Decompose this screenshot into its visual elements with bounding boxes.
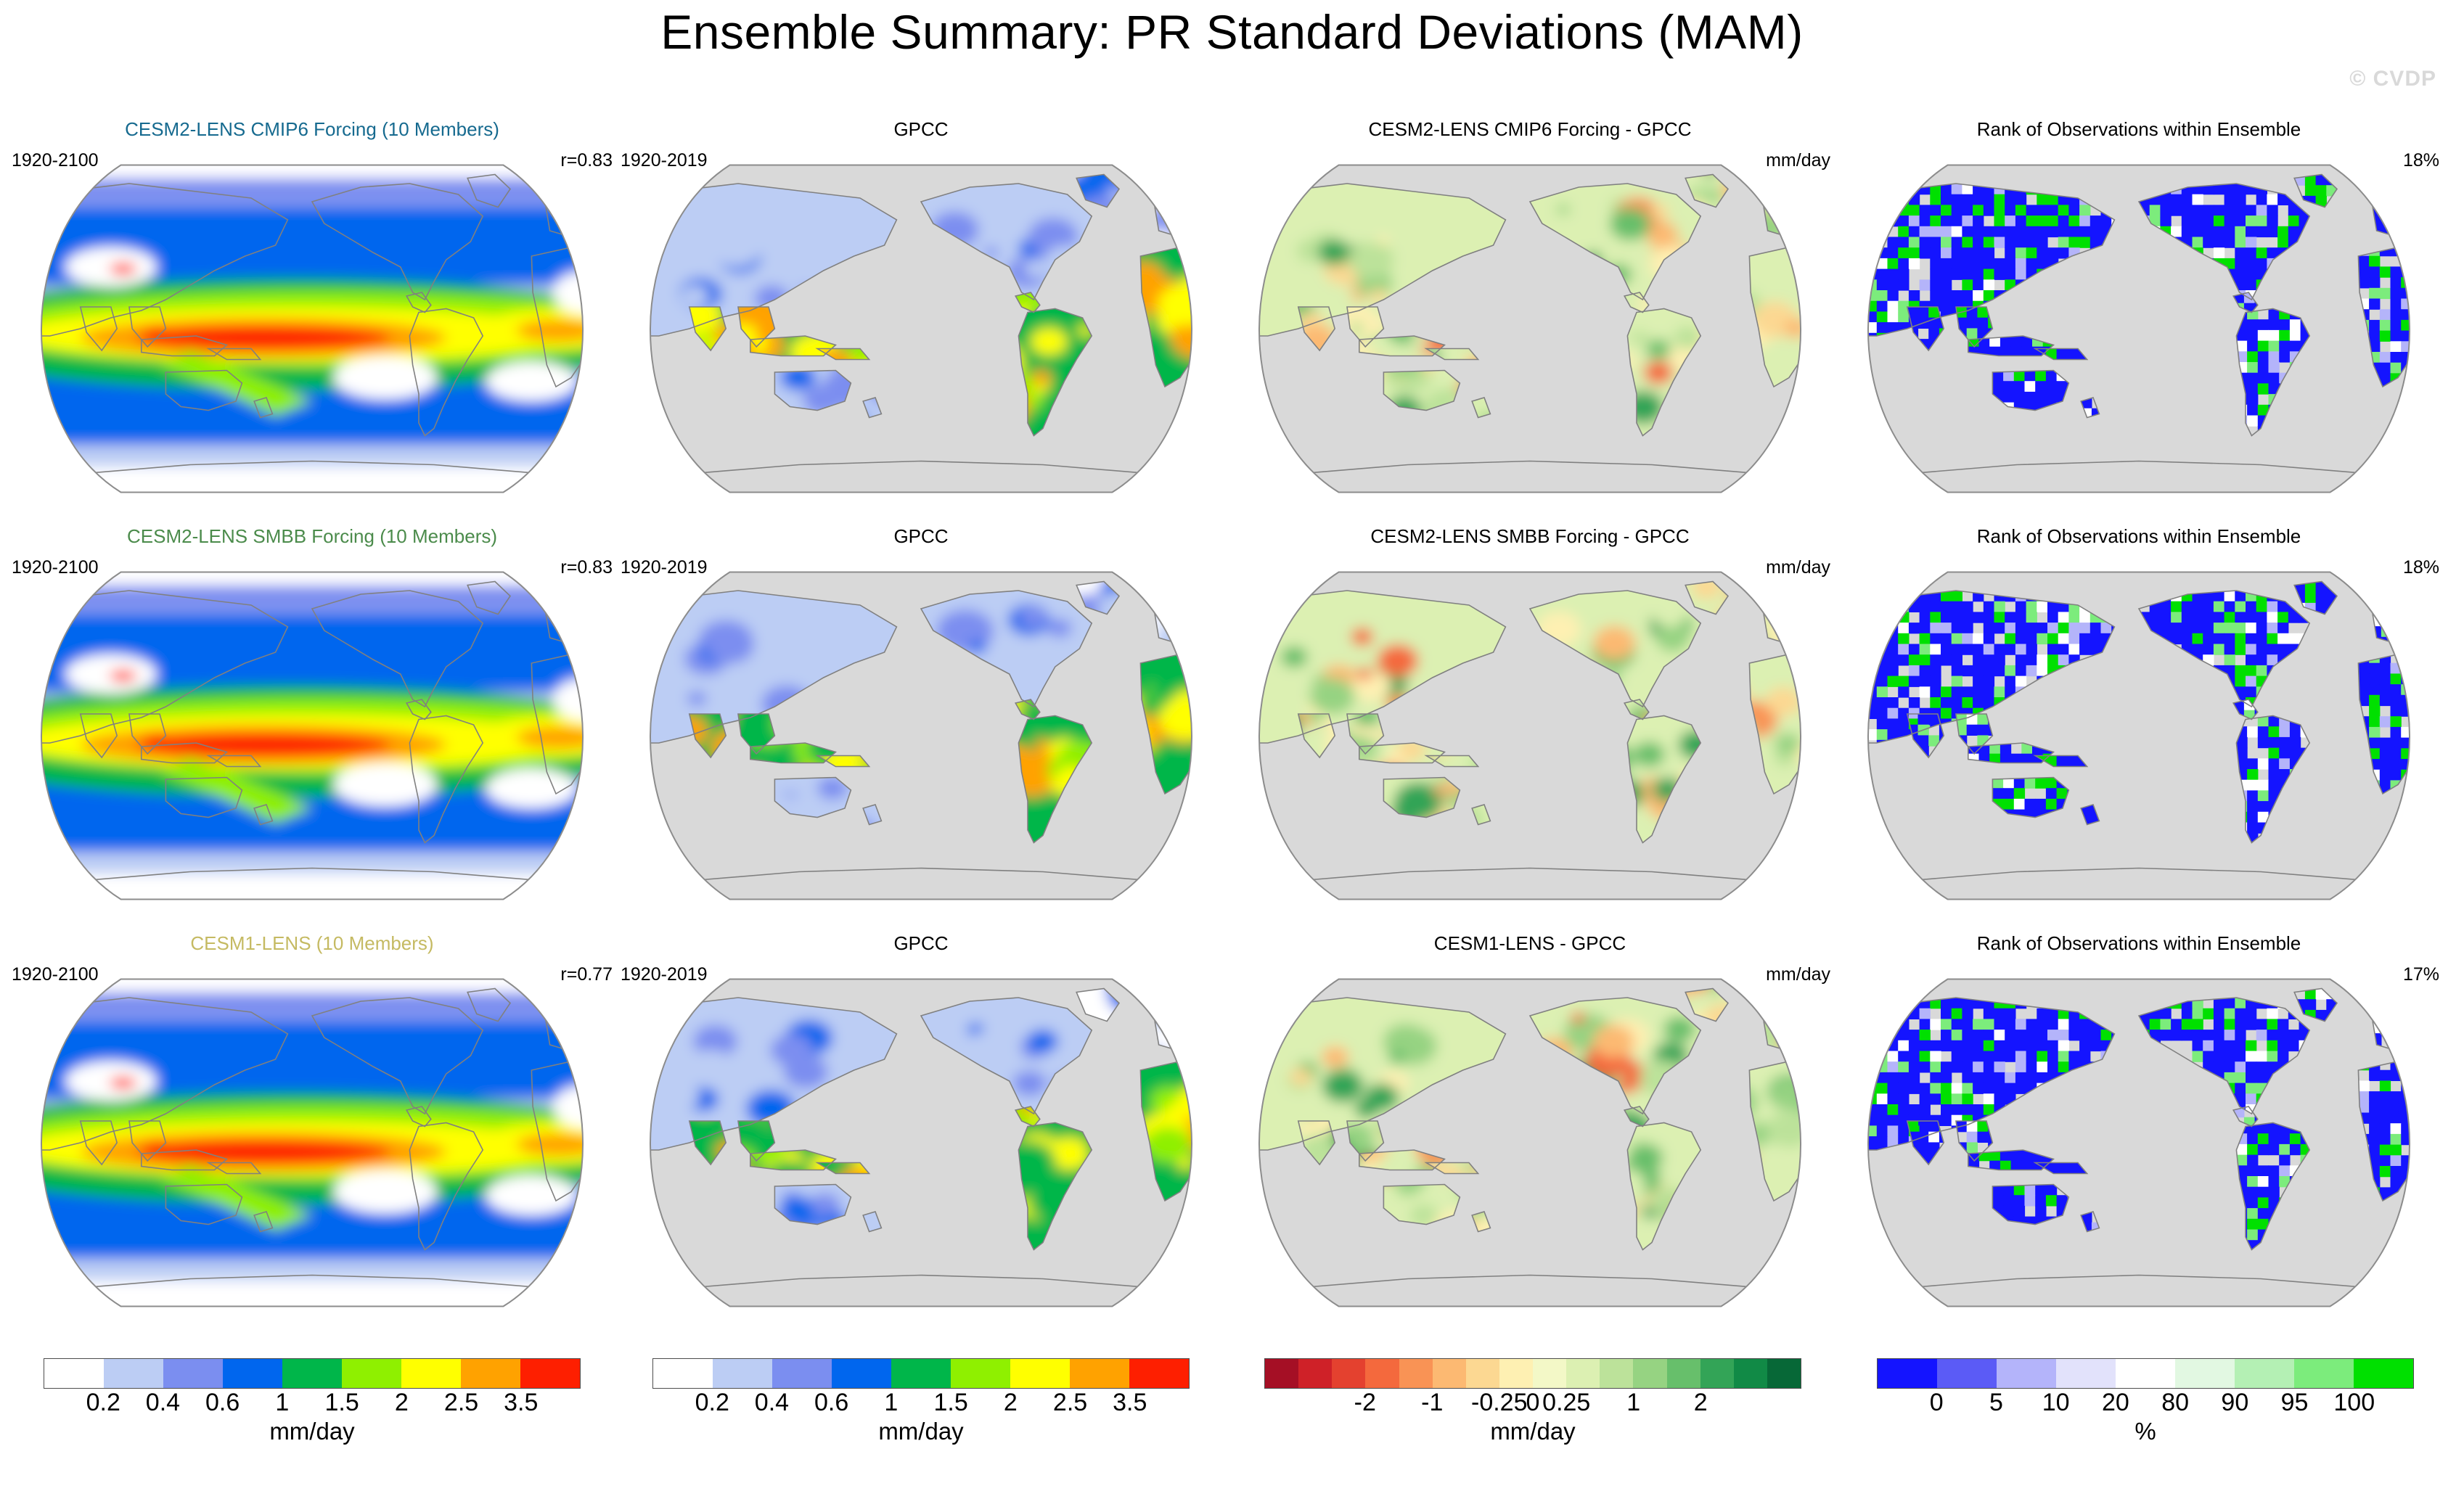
map-obs [616,554,1226,917]
panel-title: CESM1-LENS - GPCC [1225,934,1835,953]
colorbar-swatch [1332,1359,1365,1388]
colorbar-tick-label: 0 [1526,1390,1540,1415]
map-model [7,961,617,1324]
colorbar-swatches [1877,1358,2414,1389]
colorbar-swatch [1070,1359,1129,1388]
colorbar-swatch [342,1359,401,1388]
colorbar-std-obs: 0.20.40.611.522.53.5mm/day [652,1358,1190,1443]
colorbar-tick-label: 0.4 [146,1390,180,1415]
map-rank [1834,147,2444,510]
colorbar-swatch [713,1359,772,1388]
colorbar-swatch [1667,1359,1700,1388]
panel-title: CESM2-LENS CMIP6 Forcing - GPCC [1225,120,1835,139]
colorbar-swatch [2056,1359,2116,1388]
panel-row-3-rank: Rank of Observations within Ensemble17% [1834,934,2444,1340]
colorbar-tick-label: 0.25 [1542,1390,1590,1415]
colorbar-tick-label: 2 [1694,1390,1708,1415]
colorbar-tick-label: 20 [2102,1390,2129,1415]
panel-title: CESM1-LENS (10 Members) [7,934,617,953]
map-model [7,554,617,917]
colorbar-tick-label: 10 [2042,1390,2070,1415]
colorbar-tick-label: 1.5 [324,1390,359,1415]
page-title: Ensemble Summary: PR Standard Deviations… [0,6,2464,59]
panel-title: GPCC [616,120,1226,139]
colorbar-swatch [772,1359,832,1388]
panel-title: CESM2-LENS CMIP6 Forcing (10 Members) [7,120,617,139]
panel-title: Rank of Observations within Ensemble [1834,527,2444,546]
colorbar-swatch [1129,1359,1189,1388]
colorbar-swatch [1633,1359,1666,1388]
panel-row-1-rank: Rank of Observations within Ensemble18% [1834,120,2444,526]
colorbar-tick-label: 0.2 [695,1390,729,1415]
panel-row-1-model: CESM2-LENS CMIP6 Forcing (10 Members)192… [7,120,617,526]
panel-row-2-model: CESM2-LENS SMBB Forcing (10 Members)1920… [7,527,617,933]
colorbar-swatch [2116,1359,2175,1388]
colorbar-swatch [282,1359,342,1388]
colorbar-ticks: 0.20.40.611.522.53.5 [44,1389,581,1422]
colorbar-rank: 051020809095100% [1877,1358,2414,1443]
colorbar-ticks: -2-1-0.2500.2512 [1264,1389,1801,1422]
colorbar-tick-label: 5 [1989,1390,2003,1415]
colorbar-tick-label: 2 [1004,1390,1018,1415]
colorbar-tick-label: 1 [884,1390,898,1415]
colorbar-tick-label: 100 [2333,1390,2375,1415]
colorbar-difference: -2-1-0.2500.2512mm/day [1264,1358,1801,1443]
colorbar-swatch [104,1359,163,1388]
colorbar-tick-label: 3.5 [1113,1390,1147,1415]
colorbar-swatch [163,1359,223,1388]
colorbar-swatch [1734,1359,1767,1388]
panel-title: Rank of Observations within Ensemble [1834,934,2444,953]
panel-row-3-obs: GPCC1920-2019 [616,934,1226,1340]
colorbar-unit-label: mm/day [1264,1419,1801,1443]
panel-row-3-model: CESM1-LENS (10 Members)1920-2100r=0.77 [7,934,617,1340]
colorbar-swatch [2175,1359,2235,1388]
colorbar-tick-label: 90 [2221,1390,2248,1415]
map-rank [1834,961,2444,1324]
map-diff [1225,554,1835,917]
map-rank [1834,554,2444,917]
map-diff [1225,961,1835,1324]
colorbar-swatch [1433,1359,1466,1388]
colorbar-swatch [1997,1359,2056,1388]
colorbar-swatch [1010,1359,1070,1388]
colorbar-swatch [2294,1359,2354,1388]
colorbar-swatch [1767,1359,1801,1388]
colorbar-swatch [653,1359,713,1388]
colorbar-swatch [223,1359,282,1388]
colorbar-swatch [1533,1359,1566,1388]
panel-title: GPCC [616,527,1226,546]
colorbar-swatch [1365,1359,1399,1388]
colorbar-tick-label: 3.5 [504,1390,538,1415]
colorbar-swatch [1878,1359,1937,1388]
colorbar-tick-label: 0.6 [205,1390,240,1415]
map-obs [616,147,1226,510]
colorbar-tick-label: -2 [1354,1390,1376,1415]
colorbar-ticks: 0.20.40.611.522.53.5 [652,1389,1190,1422]
colorbar-swatch [520,1359,580,1388]
colorbar-tick-label: 95 [2281,1390,2309,1415]
panel-title: CESM2-LENS SMBB Forcing (10 Members) [7,527,617,546]
colorbar-unit-label: mm/day [652,1419,1190,1443]
panel-title: Rank of Observations within Ensemble [1834,120,2444,139]
map-diff [1225,147,1835,510]
panel-title: GPCC [616,934,1226,953]
colorbar-swatch [832,1359,891,1388]
colorbar-tick-label: 0.4 [755,1390,789,1415]
colorbar-swatch [461,1359,520,1388]
colorbar-swatch [1265,1359,1298,1388]
colorbar-swatches [652,1358,1190,1389]
panel-row-1-obs: GPCC1920-2019 [616,120,1226,526]
panel-title: CESM2-LENS SMBB Forcing - GPCC [1225,527,1835,546]
panel-row-2-diff: CESM2-LENS SMBB Forcing - GPCCmm/day [1225,527,1835,933]
colorbar-ticks: 051020809095100 [1877,1389,2414,1422]
colorbar-tick-label: 2.5 [444,1390,478,1415]
colorbar-swatch [401,1359,461,1388]
colorbar-unit-label: % [1877,1419,2414,1443]
colorbar-swatch [1566,1359,1600,1388]
colorbar-std-model: 0.20.40.611.522.53.5mm/day [44,1358,581,1443]
colorbar-tick-label: 0.2 [86,1390,120,1415]
colorbar-tick-label: 0.6 [814,1390,848,1415]
map-model [7,147,617,510]
colorbar-tick-label: 2 [395,1390,409,1415]
colorbar-swatch [1700,1359,1734,1388]
colorbar-swatch [1298,1359,1332,1388]
colorbar-tick-label: 80 [2161,1390,2189,1415]
map-obs [616,961,1226,1324]
colorbar-swatch [951,1359,1010,1388]
cvdp-watermark: © CVDP [2349,67,2436,91]
colorbar-unit-label: mm/day [44,1419,581,1443]
colorbar-swatch [44,1359,104,1388]
colorbar-swatch [1466,1359,1499,1388]
colorbar-tick-label: 0 [1930,1390,1944,1415]
colorbar-swatches [1264,1358,1801,1389]
panel-row-2-obs: GPCC1920-2019 [616,527,1226,933]
colorbar-tick-label: -0.25 [1471,1390,1528,1415]
colorbar-swatch [891,1359,951,1388]
colorbar-tick-label: 1.5 [933,1390,967,1415]
colorbar-tick-label: -1 [1421,1390,1443,1415]
colorbar-tick-label: 2.5 [1053,1390,1087,1415]
colorbar-swatch [2235,1359,2294,1388]
panel-row-1-diff: CESM2-LENS CMIP6 Forcing - GPCCmm/day [1225,120,1835,526]
colorbar-swatch [1499,1359,1533,1388]
colorbar-swatch [1600,1359,1633,1388]
panel-row-2-rank: Rank of Observations within Ensemble18% [1834,527,2444,933]
colorbar-swatch [1937,1359,1997,1388]
colorbar-swatches [44,1358,581,1389]
colorbar-tick-label: 1 [1626,1390,1640,1415]
colorbar-swatch [1399,1359,1433,1388]
panel-row-3-diff: CESM1-LENS - GPCCmm/day [1225,934,1835,1340]
colorbar-tick-label: 1 [275,1390,289,1415]
colorbar-swatch [2354,1359,2413,1388]
